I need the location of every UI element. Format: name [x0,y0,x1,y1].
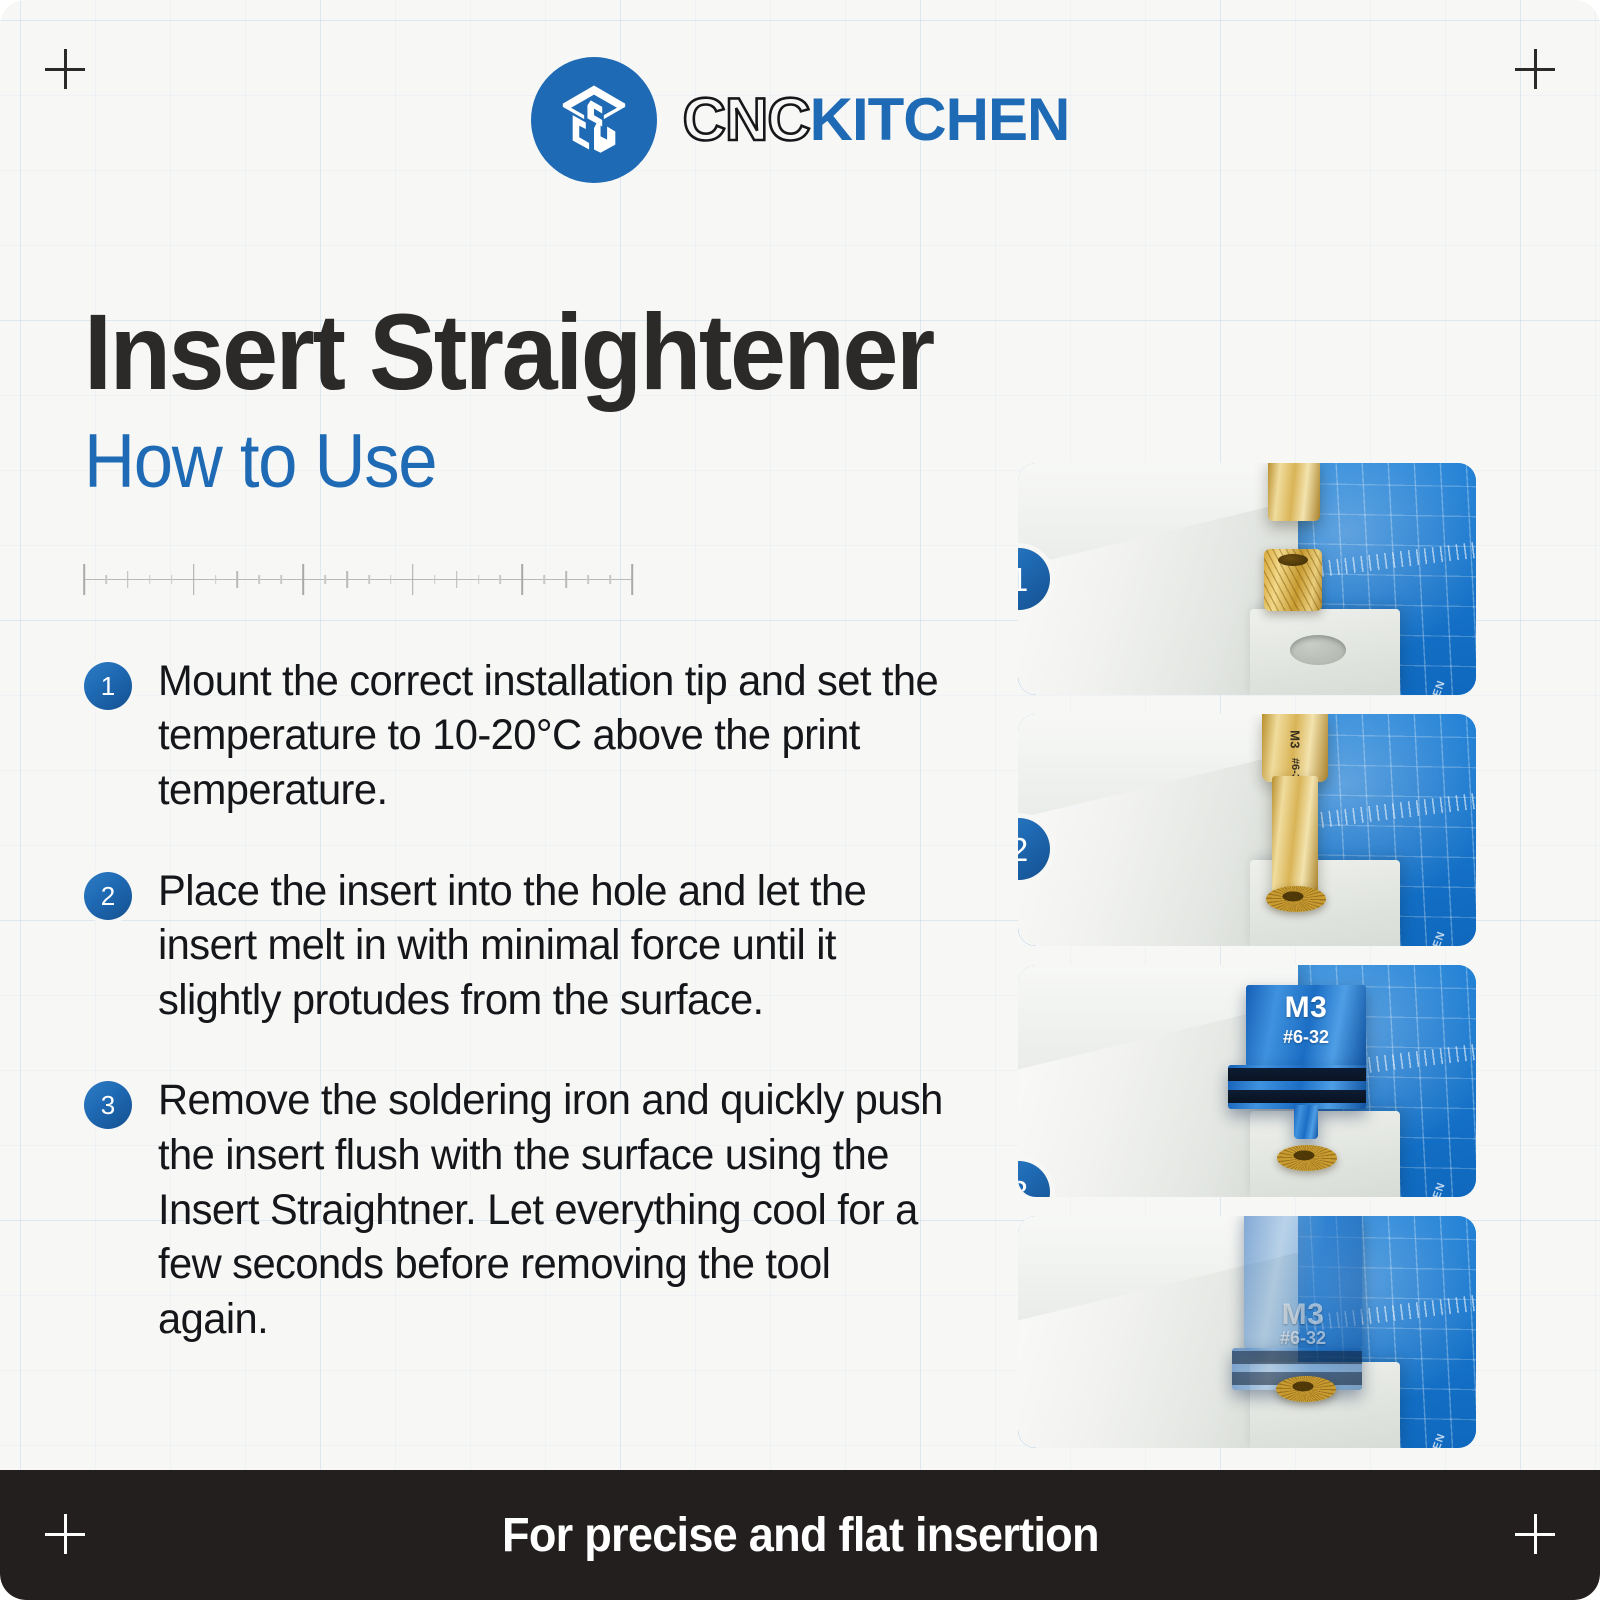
ruler-tick-medium [237,571,239,588]
photo-step-3: CNCKITCHEN M3 #6-32 3 [1018,965,1476,1197]
insert-straightener-body: M3 #6-32 [1246,985,1366,1067]
soldering-tip-nose [1272,776,1318,896]
step-text: Place the insert into the hole and let t… [158,864,950,1028]
ruler-tick-medium [127,571,129,588]
ruler-tick-minor [609,575,611,584]
ruler-tick-minor [149,575,151,584]
brass-insert-flush [1276,1376,1336,1402]
brass-insert [1264,549,1322,611]
ruler-graphic [84,562,632,598]
ruler-tick-minor [478,575,480,584]
insert-straightener-pin [1294,1105,1318,1139]
brass-insert-flush [1277,1145,1337,1171]
tool-label-size: M3 [1246,991,1366,1025]
ruler-tick-minor [544,575,546,584]
crosshair-bottom-left-icon [45,1514,85,1554]
ruler-tick-minor [215,575,217,584]
ruler-tick-medium [456,571,458,588]
soldering-tip [1268,463,1320,521]
ruler-tick-minor [587,575,589,584]
ruler-tick-major [412,564,414,595]
step-badge: 3 [84,1081,132,1129]
tool-label-imperial: #6-32 [1244,1328,1362,1349]
step-badge: 1 [84,662,132,710]
page-title: Insert Straightener [84,300,912,404]
printed-part-foot [1250,609,1400,695]
step-text: Remove the soldering iron and quickly pu… [158,1073,950,1346]
infographic-page: CNCKITCHEN Insert Straightener How to Us… [0,0,1600,1600]
photo-step-3-cutaway: CNCKITCHEN M3 #6-32 [1018,1216,1476,1448]
ruler-tick-minor [500,575,502,584]
photo-step-1: CNCKITCHEN 1 [1018,463,1476,695]
page-subtitle: How to Use [84,424,912,500]
ruler-tick-major [522,564,524,595]
tool-groove-upper [1228,1068,1366,1081]
list-item: 3 Remove the soldering iron and quickly … [84,1073,974,1346]
content-column: Insert Straightener How to Use 1 Mount t… [84,300,974,1346]
step-text: Mount the correct installation tip and s… [158,654,950,818]
ruler-tick-minor [259,575,261,584]
ruler-baseline [84,579,632,581]
list-item: 2 Place the insert into the hole and let… [84,864,974,1028]
ruler-tick-major [302,564,304,595]
ruler-tick-minor [368,575,370,584]
ruler-tick-minor [324,575,326,584]
part-hole [1290,635,1346,665]
ruler-tick-major [83,564,85,595]
tool-groove-upper [1232,1351,1362,1364]
ruler-tick-minor [434,575,436,584]
brand-header: CNCKITCHEN [0,57,1600,183]
tool-label-imperial: #6-32 [1246,1027,1366,1048]
ruler-tick-minor [105,575,107,584]
ruler-tick-major [193,564,195,595]
wordmark-cnc: CNC [683,90,810,150]
soldering-tip-shank: M3 #6-32 [1262,714,1328,782]
ruler-tick-major [631,564,633,595]
steps-list: 1 Mount the correct installation tip and… [84,654,974,1347]
wordmark-kitchen: KITCHEN [810,90,1070,150]
crosshair-bottom-right-icon [1515,1514,1555,1554]
ruler-tick-medium [346,571,348,588]
photo-stack: CNCKITCHEN 1 CNCKITCHEN M3 #6-32 2 [1018,463,1476,1448]
ruler-tick-minor [171,575,173,584]
ruler-tick-minor [390,575,392,584]
brass-insert-seated [1266,886,1326,912]
insert-straightener-flange [1228,1065,1366,1109]
photo-step-2: CNCKITCHEN M3 #6-32 2 [1018,714,1476,946]
cnc-kitchen-wordmark: CNCKITCHEN [683,90,1070,150]
insert-straightener-body-cutaway: M3 #6-32 [1244,1216,1362,1350]
footer-banner: For precise and flat insertion [0,1470,1600,1600]
ruler-tick-medium [565,571,567,588]
list-item: 1 Mount the correct installation tip and… [84,654,974,818]
tip-label-size: M3 [1288,730,1303,749]
step-badge: 2 [84,872,132,920]
tool-label-size: M3 [1244,1298,1362,1332]
cnc-kitchen-cube-logo-icon [531,57,657,183]
ruler-tick-minor [280,575,282,584]
footer-tagline: For precise and flat insertion [502,1508,1099,1563]
tool-groove-lower [1228,1090,1366,1103]
